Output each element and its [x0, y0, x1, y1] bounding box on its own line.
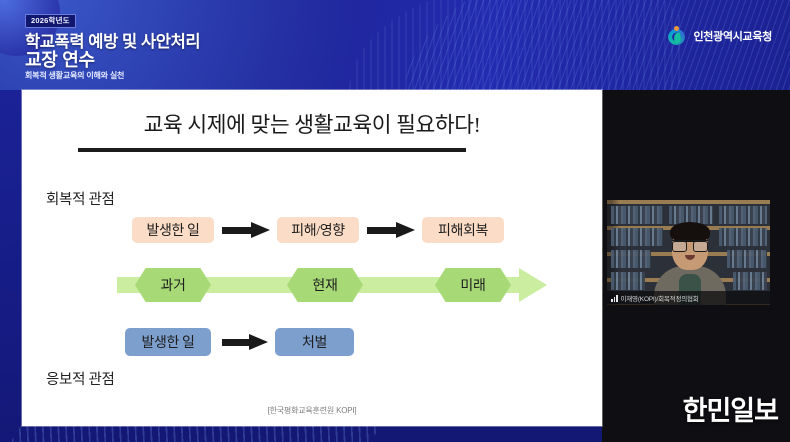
incheon-education-office-icon [668, 26, 687, 45]
bookshelf-books [611, 250, 651, 268]
retributive-perspective-label: 응보적 관점 [46, 368, 115, 389]
slide-title: 교육 시제에 맞는 생활교육이 필요하다! [22, 108, 602, 139]
seminar-banner: 2026학년도 학교폭력 예방 및 사안처리 교장 연수 회복적 생활교육의 이… [0, 0, 790, 90]
meeting-screenshot: 2026학년도 학교폭력 예방 및 사안처리 교장 연수 회복적 생활교육의 이… [0, 0, 790, 442]
timeline-node-past: 과거 [135, 268, 211, 302]
timeline-node-present: 현재 [287, 268, 363, 302]
presentation-slide: 교육 시제에 맞는 생활교육이 필요하다! 회복적 관점 발생한 일 피해/영향… [22, 90, 602, 426]
year-badge: 2026학년도 [25, 14, 76, 28]
retributive-node-event: 발생한 일 [125, 328, 211, 356]
banner-subtitle: 회복적 생활교육의 이해와 실천 [25, 70, 124, 81]
arrow-right-icon [222, 222, 270, 238]
banner-title-line2: 교장 연수 [25, 46, 95, 72]
restorative-node-event: 발생한 일 [132, 217, 214, 243]
watermark: 한민일보 [683, 389, 778, 428]
time-axis: 과거 현재 미래 [117, 268, 547, 302]
time-axis-arrowhead-icon [519, 268, 547, 302]
organization-logo: 인천광역시교육청 [668, 26, 772, 45]
organization-name: 인천광역시교육청 [693, 28, 772, 44]
bookshelf-books [719, 228, 767, 246]
audio-signal-icon [611, 295, 618, 302]
arrow-right-icon [367, 222, 415, 238]
title-underline-rule [78, 148, 466, 152]
retributive-node-punishment: 처벌 [275, 328, 354, 356]
glasses-icon [672, 240, 708, 250]
bookshelf-books [719, 206, 767, 224]
restorative-node-harm: 피해/영향 [277, 217, 359, 243]
participant-name-bar: 이재영(KOPI)/회복적정의협회 [607, 291, 770, 305]
timeline-node-future: 미래 [435, 268, 511, 302]
participant-video-tile[interactable]: 이재영(KOPI)/회복적정의협회 [607, 200, 770, 305]
bookshelf-books [611, 272, 645, 290]
bookshelf-books [733, 272, 767, 290]
participant-name: 이재영(KOPI)/회복적정의협회 [621, 293, 699, 303]
slide-source-credit: [한국평화교육훈련원 KOPI] [22, 405, 602, 416]
restorative-perspective-label: 회복적 관점 [46, 188, 115, 209]
banner-wave-lines-secondary [343, 0, 686, 90]
arrow-right-icon [222, 334, 268, 350]
bookshelf-books [727, 250, 767, 268]
restorative-node-repair: 피해회복 [422, 217, 504, 243]
